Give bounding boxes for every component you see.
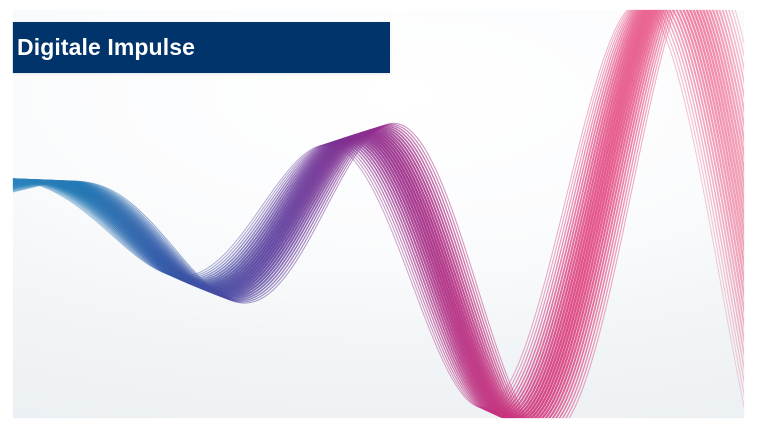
title-banner: Digitale Impulse xyxy=(0,22,390,73)
slide-canvas: Digitale Impulse xyxy=(0,0,768,432)
page-title: Digitale Impulse xyxy=(0,36,195,59)
